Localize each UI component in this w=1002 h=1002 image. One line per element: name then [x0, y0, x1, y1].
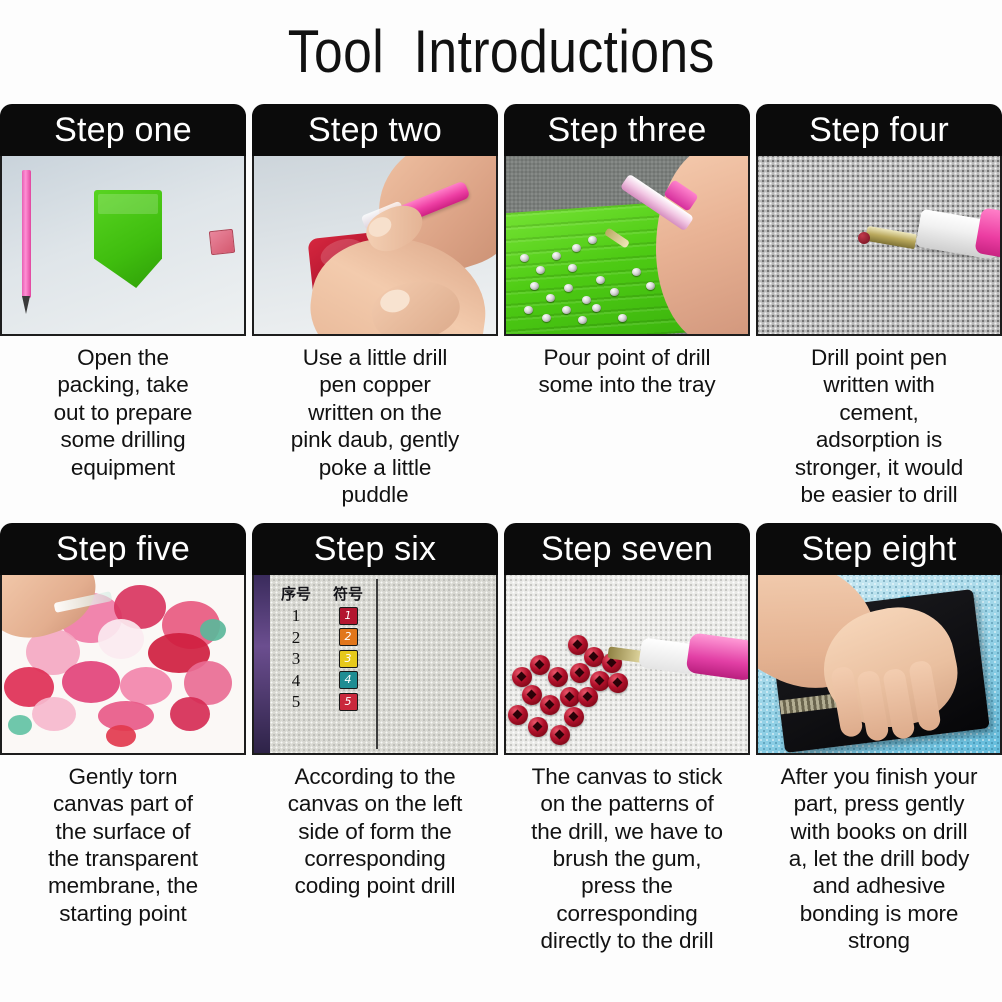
floral-pattern-blob [98, 619, 144, 659]
legend-serial: 5 [276, 693, 316, 710]
step-two-photo [252, 156, 498, 336]
step-five-header-label: Step five [56, 532, 190, 566]
step-one-scene [2, 156, 244, 334]
drill-bead-icon [572, 244, 581, 252]
drill-bead-icon [530, 282, 539, 290]
drill-bead-icon [608, 673, 628, 693]
step-six-caption: According to the canvas on the left side… [252, 755, 498, 900]
steps-row-one: Step one Open the packing, take out to p… [0, 104, 1002, 509]
step-two-header-label: Step two [308, 113, 442, 147]
drill-bead-icon [546, 294, 555, 302]
drill-bead-icon [550, 725, 570, 745]
floral-pattern-blob [200, 619, 226, 641]
legend-row: 4 4 [276, 671, 372, 689]
legend-symbol: 3 [328, 650, 368, 668]
step-four-scene [758, 156, 1000, 334]
step-two-scene [254, 156, 496, 334]
legend-row: 2 2 [276, 628, 372, 646]
drill-bead-icon [552, 252, 561, 260]
green-tray-rim [98, 194, 158, 214]
drill-bead-icon [588, 236, 597, 244]
drill-bead-icon [540, 695, 560, 715]
legend-symbol: 1 [328, 607, 368, 625]
floral-pattern-blob [62, 661, 120, 703]
step-five-caption: Gently torn canvas part of the surface o… [0, 755, 246, 928]
step-six-header-label: Step six [314, 532, 437, 566]
drill-bead-icon [520, 254, 529, 262]
step-eight-caption: After you finish your part, press gently… [756, 755, 1002, 955]
legend-serial: 4 [276, 672, 316, 689]
drill-bead-icon [858, 232, 870, 244]
color-swatch-icon: 5 [339, 693, 358, 711]
page-title: Tool Introductions [288, 22, 715, 82]
drill-bead-icon [578, 316, 587, 324]
drill-pen-icon [22, 170, 31, 298]
drill-bead-icon [508, 705, 528, 725]
color-swatch-icon: 1 [339, 607, 358, 625]
floral-pattern-blob [106, 725, 136, 747]
step-seven-caption: The canvas to stick on the patterns of t… [504, 755, 750, 955]
drill-bead-icon [530, 655, 550, 675]
legend-serial: 3 [276, 650, 316, 667]
pink-wax-icon [209, 229, 235, 255]
step-eight-header: Step eight [756, 523, 1002, 575]
step-three-header-label: Step three [548, 113, 707, 147]
legend-divider [376, 579, 378, 749]
drill-bead-icon [570, 663, 590, 683]
drill-bead-icon [564, 284, 573, 292]
step-one-header: Step one [0, 104, 246, 156]
drill-bead-icon [524, 306, 533, 314]
legend-row: 3 3 [276, 650, 372, 668]
legend-symbol: 4 [328, 671, 368, 689]
legend-serial: 2 [276, 629, 316, 646]
drill-bead-icon [582, 296, 591, 304]
step-one-photo [0, 156, 246, 336]
drill-bead-icon [578, 687, 598, 707]
step-four-photo [756, 156, 1002, 336]
drill-pen-tip-icon [22, 296, 30, 314]
legend-header-serial: 序号 [276, 583, 316, 604]
step-eight-scene [758, 575, 1000, 753]
step-two-caption: Use a little drill pen copper written on… [252, 336, 498, 509]
canvas-edge [254, 575, 270, 753]
step-panel-four: Step four Drill point pen written with c… [756, 104, 1002, 509]
drill-bead-icon [548, 667, 568, 687]
step-panel-seven: Step seven [504, 523, 750, 955]
legend-table: 序号 符号 1 1 2 2 3 3 [276, 583, 372, 715]
floral-pattern-blob [8, 715, 32, 735]
step-seven-header-label: Step seven [541, 532, 713, 566]
color-swatch-icon: 2 [339, 628, 358, 646]
step-six-scene: 序号 符号 1 1 2 2 3 3 [254, 575, 496, 753]
drill-bead-icon [542, 314, 551, 322]
step-five-scene [2, 575, 244, 753]
color-swatch-icon: 4 [339, 671, 358, 689]
legend-row: 5 5 [276, 693, 372, 711]
drill-bead-icon [584, 647, 604, 667]
step-six-header: Step six [252, 523, 498, 575]
step-panel-one: Step one Open the packing, take out to p… [0, 104, 246, 509]
legend-serial: 1 [276, 607, 316, 624]
step-four-caption: Drill point pen written with cement, ads… [756, 336, 1002, 509]
title-bar: Tool Introductions [0, 0, 1002, 104]
step-six-photo: 序号 符号 1 1 2 2 3 3 [252, 575, 498, 755]
steps-row-two: Step five [0, 523, 1002, 955]
floral-pattern-blob [170, 697, 210, 731]
drill-bead-icon [562, 306, 571, 314]
drill-bead-icon [632, 268, 641, 276]
step-three-scene [506, 156, 748, 334]
step-panel-three: Step three [504, 104, 750, 509]
step-one-caption: Open the packing, take out to prepare so… [0, 336, 246, 481]
step-three-header: Step three [504, 104, 750, 156]
step-panel-two: Step two Use a little drill pen copper w… [252, 104, 498, 509]
drill-bead-icon [610, 288, 619, 296]
legend-symbol: 5 [328, 693, 368, 711]
drill-bead-icon [592, 304, 601, 312]
step-seven-header: Step seven [504, 523, 750, 575]
step-five-photo [0, 575, 246, 755]
step-seven-photo [504, 575, 750, 755]
step-eight-header-label: Step eight [801, 532, 956, 566]
step-five-header: Step five [0, 523, 246, 575]
drill-bead-icon [596, 276, 605, 284]
drill-bead-icon [522, 685, 542, 705]
drill-bead-icon [618, 314, 627, 322]
drill-bead-icon [560, 687, 580, 707]
drill-bead-icon [536, 266, 545, 274]
drill-bead-icon [646, 282, 655, 290]
legend-row: 1 1 [276, 607, 372, 625]
floral-pattern-blob [120, 667, 172, 705]
drill-bead-icon [564, 707, 584, 727]
step-two-header: Step two [252, 104, 498, 156]
drill-bead-icon [528, 717, 548, 737]
step-seven-scene [506, 575, 748, 753]
step-eight-photo [756, 575, 1002, 755]
step-one-header-label: Step one [54, 113, 192, 147]
step-three-caption: Pour point of drill some into the tray [504, 336, 750, 399]
floral-pattern-blob [32, 697, 76, 731]
legend-header-symbol: 符号 [328, 583, 368, 604]
step-panel-eight: Step eight Afte [756, 523, 1002, 955]
fingers-group [836, 667, 956, 741]
step-four-header-label: Step four [809, 113, 949, 147]
finger-icon [656, 156, 748, 334]
drill-bead-icon [568, 264, 577, 272]
color-swatch-icon: 3 [339, 650, 358, 668]
step-four-header: Step four [756, 104, 1002, 156]
tool-introductions-page: Tool Introductions Step one Open the pac… [0, 0, 1002, 1002]
step-panel-five: Step five [0, 523, 246, 955]
drill-bead-icon [512, 667, 532, 687]
legend-table-header: 序号 符号 [276, 583, 372, 604]
step-panel-six: Step six 序号 符号 1 1 [252, 523, 498, 955]
step-three-photo [504, 156, 750, 336]
legend-symbol: 2 [328, 628, 368, 646]
